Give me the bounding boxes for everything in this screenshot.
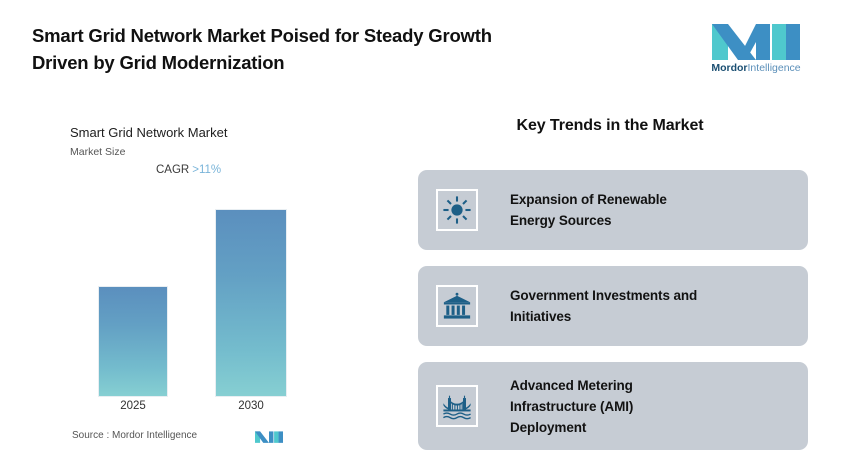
trend-label-renewable-energy: Expansion of Renewable Energy Sources <box>510 189 790 231</box>
trend-label-line-1: Government Investments and <box>510 288 697 303</box>
sun-icon <box>436 189 478 231</box>
x-axis-label-2025: 2025 <box>98 400 168 412</box>
bank-icon <box>436 285 478 327</box>
mordor-intelligence-mini-mark <box>255 429 283 444</box>
chart-panel: Smart Grid Network Market Market Size CA… <box>0 96 400 462</box>
bar-2030 <box>215 209 287 397</box>
source-text: Source : Mordor Intelligence <box>72 430 197 441</box>
trend-label-government-investments: Government Investments and Initiatives <box>510 285 790 327</box>
x-axis-label-2030: 2030 <box>215 400 287 412</box>
trend-label-line-2: Energy Sources <box>510 213 611 228</box>
brand-word-mordor: Mordor <box>711 62 747 74</box>
brand-logo: MordorIntelligence <box>704 20 808 78</box>
page-header: Smart Grid Network Market Poised for Ste… <box>0 0 860 96</box>
page-title-line-1: Smart Grid Network Market Poised for Ste… <box>32 22 672 49</box>
trend-label-line-1: Advanced Metering <box>510 378 633 393</box>
key-trends-heading: Key Trends in the Market <box>400 117 820 135</box>
bar-2025 <box>98 286 168 397</box>
page-title: Smart Grid Network Market Poised for Ste… <box>32 22 672 76</box>
brand-word-intelligence: Intelligence <box>748 62 801 74</box>
key-trends-panel: Key Trends in the Market Expansion of Re… <box>400 96 860 462</box>
trend-label-line-1: Expansion of Renewable <box>510 192 667 207</box>
mordor-intelligence-logo-mark <box>712 20 800 60</box>
page-title-line-2: Driven by Grid Modernization <box>32 49 672 76</box>
trend-card-renewable-energy[interactable]: Expansion of Renewable Energy Sources <box>418 170 808 250</box>
source-row: Source : Mordor Intelligence <box>72 429 302 447</box>
trend-label-line-2: Initiatives <box>510 309 571 324</box>
brand-wordmark: MordorIntelligence <box>704 62 808 74</box>
trend-label-ami-deployment: Advanced Metering Infrastructure (AMI) D… <box>510 375 790 438</box>
trend-label-line-2: Infrastructure (AMI) <box>510 399 633 414</box>
bridge-icon <box>436 385 478 427</box>
trend-card-ami-deployment[interactable]: Advanced Metering Infrastructure (AMI) D… <box>418 362 808 450</box>
trend-label-line-3: Deployment <box>510 420 586 435</box>
trend-card-government-investments[interactable]: Government Investments and Initiatives <box>418 266 808 346</box>
bar-chart-plot-area: 2025 2030 <box>0 96 400 462</box>
